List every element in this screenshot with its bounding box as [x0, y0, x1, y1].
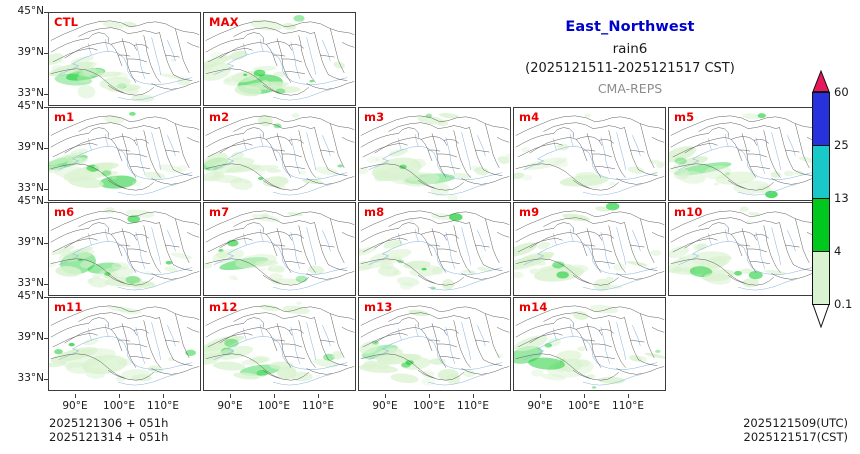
colorbar-band	[812, 145, 830, 198]
colorbar: 60251340.1	[812, 70, 830, 328]
colorbar-tick-label: 13	[834, 192, 849, 204]
panel-label: m7	[209, 205, 229, 219]
longitude-tick-mark	[163, 394, 164, 398]
longitude-tick-mark	[628, 394, 629, 398]
forecast-panel-m1[interactable]: m1	[48, 107, 201, 201]
longitude-tick-mark	[429, 394, 430, 398]
title-block: East_Northwest rain6 (2025121511-2025121…	[430, 18, 830, 98]
forecast-panel-m4[interactable]: m4	[513, 107, 666, 201]
panel-label: MAX	[209, 15, 239, 29]
longitude-tick-mark	[385, 394, 386, 398]
colorbar-tick-label: 4	[834, 245, 841, 257]
forecast-panel-m9[interactable]: m9	[513, 202, 666, 296]
forecast-panel-m7[interactable]: m7	[203, 202, 356, 296]
panel-label: m10	[674, 205, 703, 219]
panel-label: m14	[519, 300, 548, 314]
panel-label: CTL	[54, 15, 78, 29]
forecast-panel-max[interactable]: MAX	[203, 12, 356, 106]
valid-time-utc: 2025121509(UTC)	[743, 416, 848, 430]
longitude-tick-mark	[318, 394, 319, 398]
panel-label: m8	[364, 205, 384, 219]
latitude-tick-label: 45°N	[4, 6, 44, 17]
latitude-tick-label: 33°N	[4, 88, 44, 99]
longitude-tick-label: 100°E	[562, 400, 606, 412]
forecast-panel-m12[interactable]: m12	[203, 297, 356, 391]
longitude-tick-mark	[274, 394, 275, 398]
forecast-panel-m10[interactable]: m10	[668, 202, 821, 296]
longitude-tick-mark	[540, 394, 541, 398]
longitude-tick-mark	[75, 394, 76, 398]
forecast-panel-m3[interactable]: m3	[358, 107, 511, 201]
panel-label: m4	[519, 110, 539, 124]
colorbar-band	[812, 198, 830, 251]
panel-label: m12	[209, 300, 238, 314]
forecast-panel-m8[interactable]: m8	[358, 202, 511, 296]
colorbar-tick-label: 25	[834, 139, 849, 151]
latitude-tick-label: 33°N	[4, 278, 44, 289]
latitude-tick-label: 45°N	[4, 291, 44, 302]
latitude-tick-label: 39°N	[4, 142, 44, 153]
panel-label: m11	[54, 300, 83, 314]
page-title: East_Northwest	[430, 18, 830, 36]
longitude-tick-mark	[230, 394, 231, 398]
colorbar-divider	[812, 198, 830, 199]
longitude-tick-mark	[119, 394, 120, 398]
latitude-tick-label: 45°N	[4, 101, 44, 112]
latitude-tick-label: 33°N	[4, 183, 44, 194]
init-time-line-1: 2025121306 + 051h	[49, 416, 168, 430]
forecast-panel-m6[interactable]: m6	[48, 202, 201, 296]
period-title: (2025121511-2025121517 CST)	[430, 59, 830, 78]
longitude-tick-label: 90°E	[208, 400, 252, 412]
longitude-tick-label: 100°E	[407, 400, 451, 412]
panel-label: m2	[209, 110, 229, 124]
colorbar-divider	[812, 92, 830, 93]
longitude-tick-label: 110°E	[296, 400, 340, 412]
longitude-tick-label: 90°E	[363, 400, 407, 412]
longitude-tick-label: 110°E	[606, 400, 650, 412]
latitude-tick-label: 45°N	[4, 196, 44, 207]
forecast-panel-m2[interactable]: m2	[203, 107, 356, 201]
latitude-tick-label: 39°N	[4, 237, 44, 248]
footer-init-times: 2025121306 + 051h 2025121314 + 051h	[49, 416, 168, 444]
longitude-axis: 90°E100°E110°E90°E100°E110°E90°E100°E110…	[48, 398, 688, 414]
colorbar-tick-label: 0.1	[834, 298, 852, 310]
longitude-tick-label: 100°E	[97, 400, 141, 412]
panel-label: m1	[54, 110, 74, 124]
valid-time-cst: 2025121517(CST)	[743, 430, 848, 444]
forecast-panel-m13[interactable]: m13	[358, 297, 511, 391]
longitude-tick-mark	[584, 394, 585, 398]
model-title: CMA-REPS	[430, 79, 830, 98]
panel-label: m9	[519, 205, 539, 219]
colorbar-tick-label: 60	[834, 86, 849, 98]
longitude-tick-label: 110°E	[141, 400, 185, 412]
forecast-panel-m5[interactable]: m5	[668, 107, 821, 201]
colorbar-under-arrow	[812, 304, 830, 328]
longitude-tick-label: 110°E	[451, 400, 495, 412]
forecast-panel-m11[interactable]: m11	[48, 297, 201, 391]
longitude-tick-label: 90°E	[53, 400, 97, 412]
colorbar-band	[812, 251, 830, 304]
latitude-tick-label: 39°N	[4, 332, 44, 343]
longitude-tick-mark	[473, 394, 474, 398]
colorbar-divider	[812, 251, 830, 252]
colorbar-band	[812, 92, 830, 145]
footer-valid-times: 2025121509(UTC) 2025121517(CST)	[743, 416, 848, 444]
latitude-tick-label: 39°N	[4, 47, 44, 58]
colorbar-divider	[812, 145, 830, 146]
panel-label: m5	[674, 110, 694, 124]
panel-label: m3	[364, 110, 384, 124]
panel-label: m13	[364, 300, 393, 314]
latitude-tick-label: 33°N	[4, 373, 44, 384]
panel-label: m6	[54, 205, 74, 219]
forecast-panel-m14[interactable]: m14	[513, 297, 666, 391]
longitude-tick-label: 90°E	[518, 400, 562, 412]
forecast-panel-ctl[interactable]: CTL	[48, 12, 201, 106]
colorbar-over-arrow	[812, 70, 830, 92]
longitude-tick-label: 100°E	[252, 400, 296, 412]
variable-title: rain6	[430, 39, 830, 59]
init-time-line-2: 2025121314 + 051h	[49, 430, 168, 444]
latitude-axis: 45°N39°N33°N45°N39°N33°N45°N39°N33°N45°N…	[0, 0, 44, 400]
